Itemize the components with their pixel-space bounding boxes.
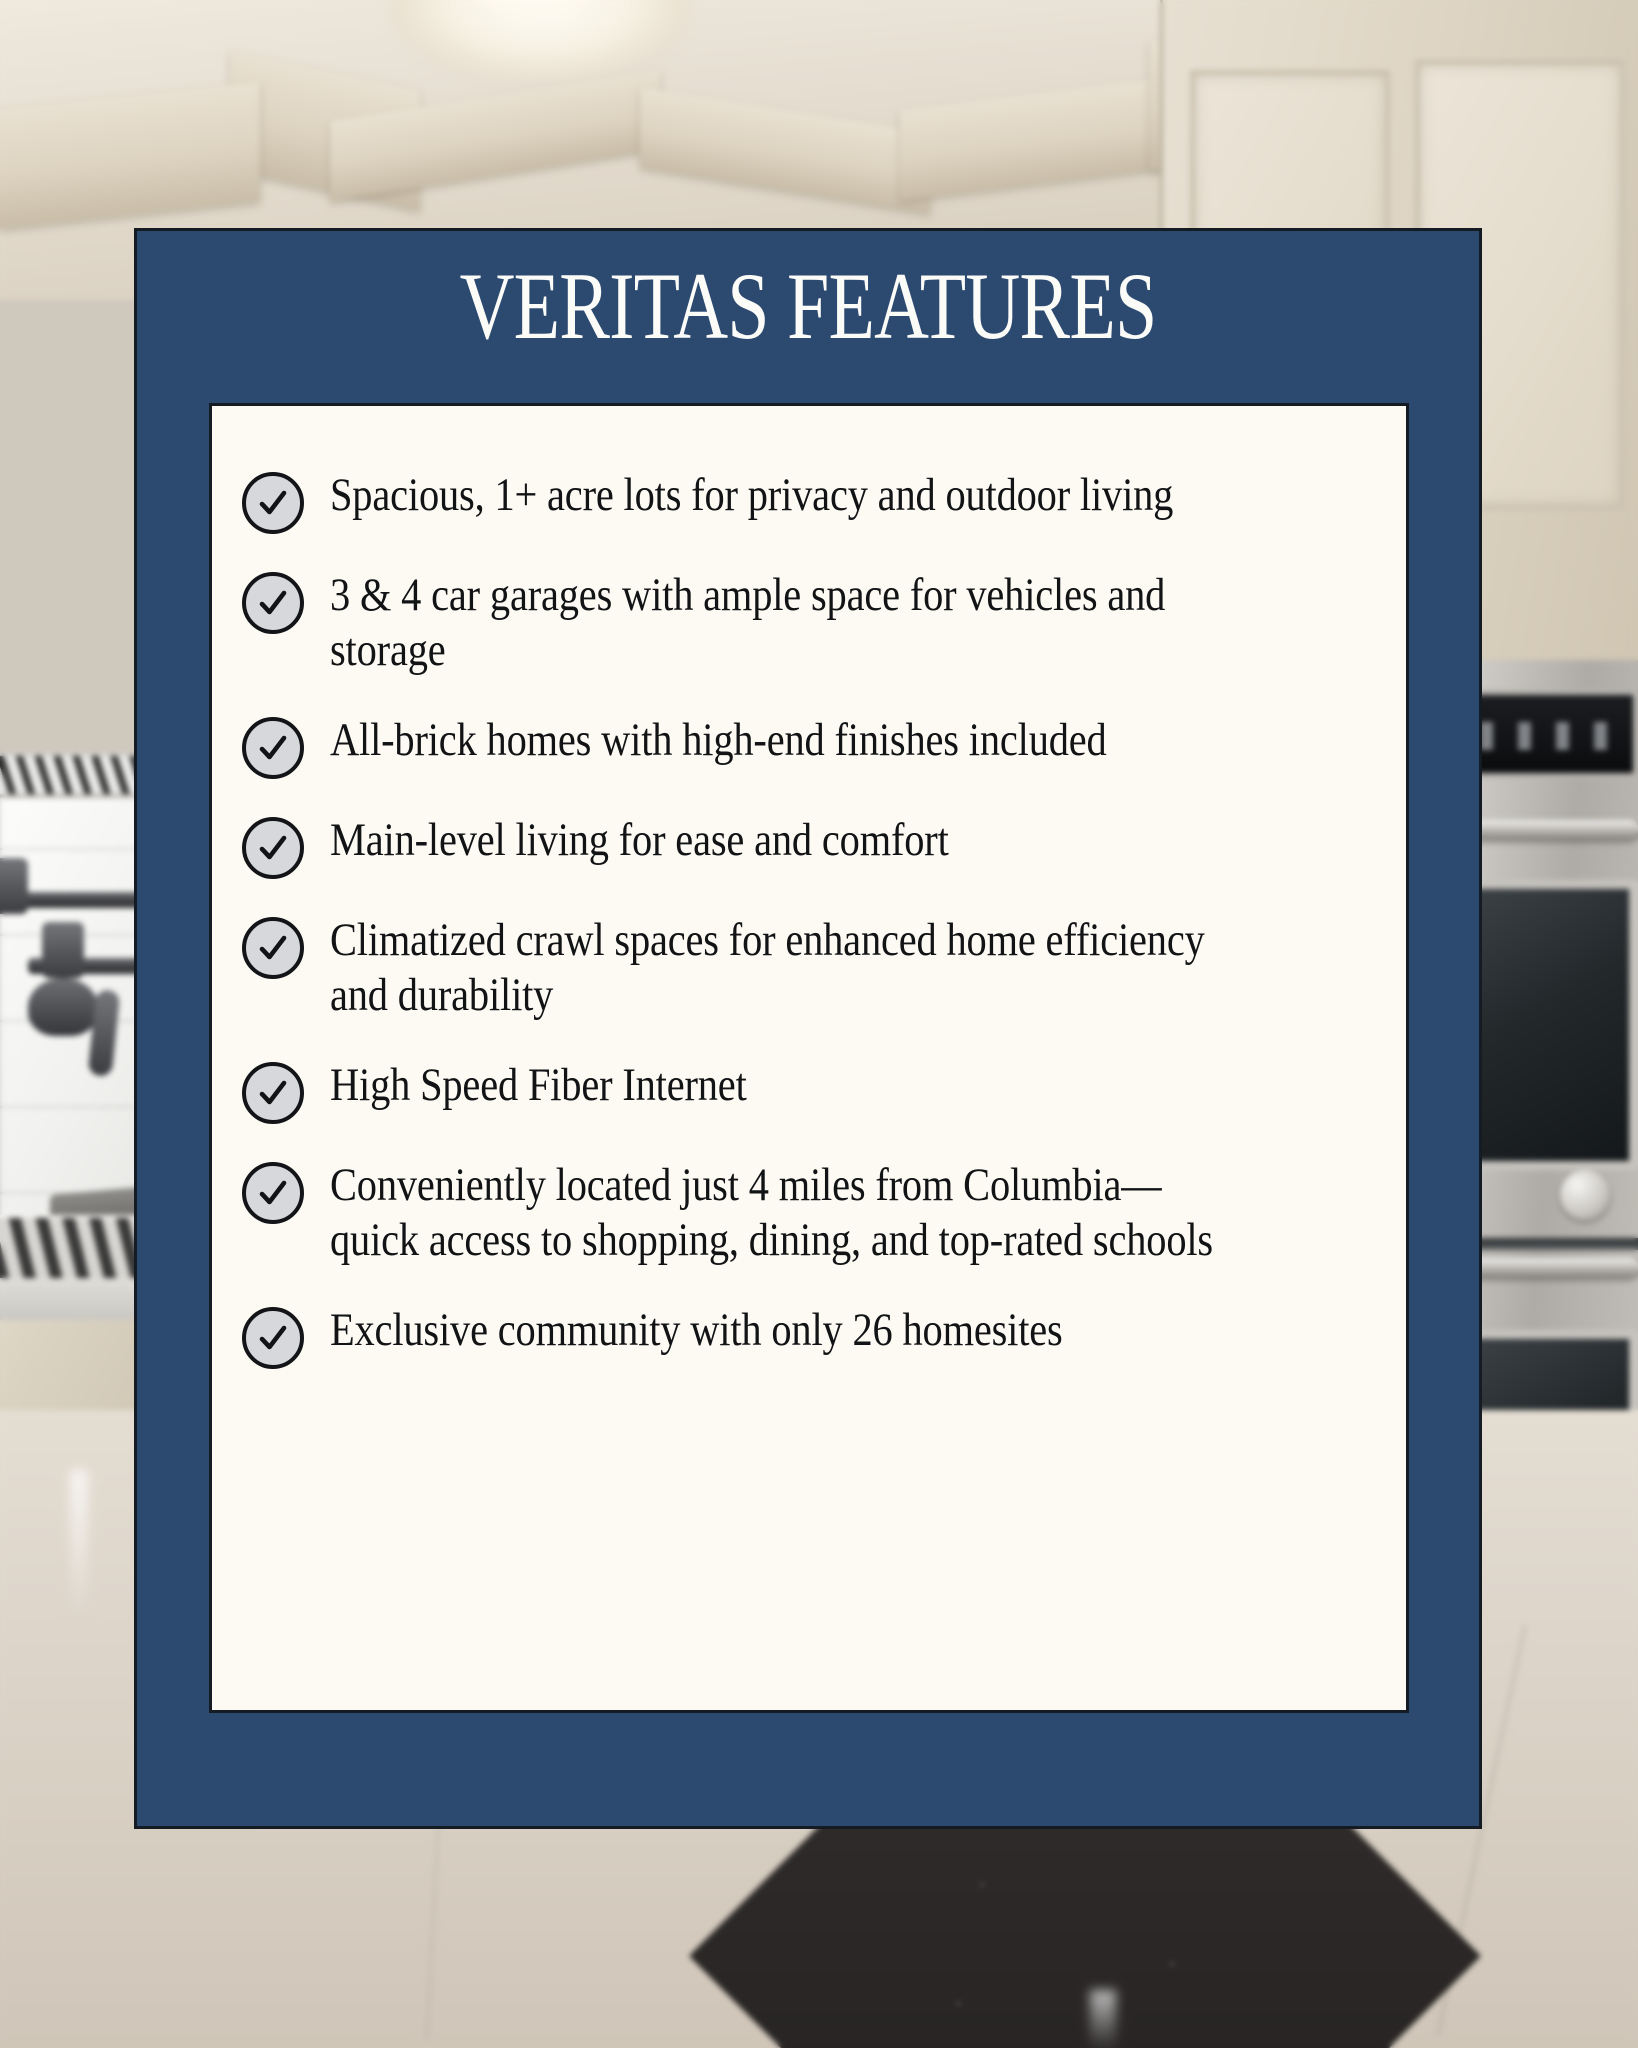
check-icon [242, 917, 304, 979]
features-card: Spacious, 1+ acre lots for privacy and o… [209, 403, 1409, 1713]
list-item-label: Conveniently located just 4 miles from C… [330, 1158, 1214, 1269]
check-icon [242, 1162, 304, 1224]
check-icon [242, 1307, 304, 1369]
check-icon [242, 572, 304, 634]
list-item: Spacious, 1+ acre lots for privacy and o… [242, 468, 1358, 534]
list-item: Main-level living for ease and comfort [242, 813, 1358, 879]
list-item-label: 3 & 4 car garages with ample space for v… [330, 568, 1214, 679]
check-icon [242, 817, 304, 879]
list-item: 3 & 4 car garages with ample space for v… [242, 568, 1358, 679]
list-item-label: Exclusive community with only 26 homesit… [330, 1303, 1214, 1358]
list-item: High Speed Fiber Internet [242, 1058, 1358, 1124]
list-item: All-brick homes with high-end finishes i… [242, 713, 1358, 779]
list-item: Exclusive community with only 26 homesit… [242, 1303, 1358, 1369]
list-item-label: All-brick homes with high-end finishes i… [330, 713, 1214, 768]
feature-list: Spacious, 1+ acre lots for privacy and o… [242, 468, 1358, 1369]
list-item-label: High Speed Fiber Internet [330, 1058, 1214, 1113]
page-title: VERITAS FEATURES [271, 259, 1345, 354]
list-item: Conveniently located just 4 miles from C… [242, 1158, 1358, 1269]
check-icon [242, 717, 304, 779]
check-icon [242, 1062, 304, 1124]
list-item: Climatized crawl spaces for enhanced hom… [242, 913, 1358, 1024]
features-panel: VERITAS FEATURES Spacious, 1+ acre lots … [134, 228, 1482, 1829]
list-item-label: Main-level living for ease and comfort [330, 813, 1214, 868]
list-item-label: Climatized crawl spaces for enhanced hom… [330, 913, 1214, 1024]
check-icon [242, 472, 304, 534]
list-item-label: Spacious, 1+ acre lots for privacy and o… [330, 468, 1214, 523]
